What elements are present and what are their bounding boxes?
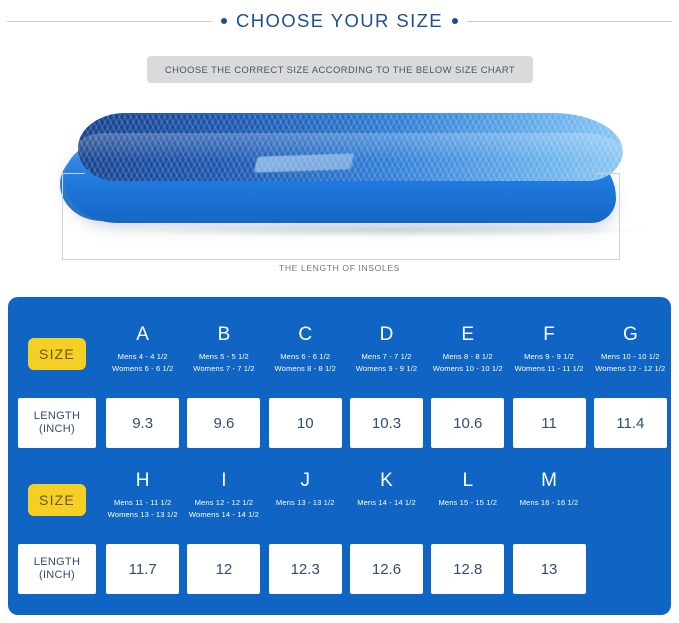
page-title: CHOOSE YOUR SIZE — [0, 6, 679, 36]
size-womens-i: Womens 14 - 14 1/2 — [189, 509, 259, 521]
size-column-m: M Mens 16 - 16 1/2 — [508, 469, 589, 531]
size-mens-e: Mens 8 - 8 1/2 — [443, 351, 493, 363]
size-letter-b: B — [218, 325, 231, 346]
size-mens-b: Mens 5 - 5 1/2 — [199, 351, 249, 363]
length-value-l: 12.8 — [431, 544, 504, 594]
length-row-1: LENGTH (INCH) 9.3 9.6 10 10.3 10.6 11 11… — [8, 395, 671, 451]
size-mens-m: Mens 16 - 16 1/2 — [520, 497, 579, 509]
length-value-m: 13 — [513, 544, 586, 594]
size-badge-cell-1: SIZE — [18, 323, 96, 385]
size-column-empty-2 — [590, 469, 671, 531]
length-wrap-k: 12.6 — [346, 541, 427, 597]
length-value-e: 10.6 — [431, 398, 504, 448]
size-mens-j: Mens 13 - 13 1/2 — [276, 497, 335, 509]
length-wrap-empty-2 — [590, 541, 671, 597]
length-wrap-h: 11.7 — [102, 541, 183, 597]
size-letter-f: F — [543, 325, 555, 346]
size-column-j: J Mens 13 - 13 1/2 — [265, 469, 346, 531]
size-column-i: I Mens 12 - 12 1/2 Womens 14 - 14 1/2 — [183, 469, 264, 531]
length-wrap-m: 13 — [508, 541, 589, 597]
size-header-row-1: SIZE A Mens 4 - 4 1/2 Womens 6 - 6 1/2 B… — [8, 323, 671, 385]
length-label-line1: LENGTH — [34, 410, 80, 423]
insole-top-surface — [77, 113, 624, 181]
size-letter-m: M — [541, 471, 557, 492]
size-letter-a: A — [136, 325, 149, 346]
size-column-d: D Mens 7 - 7 1/2 Womens 9 - 9 1/2 — [346, 323, 427, 385]
size-letter-d: D — [380, 325, 394, 346]
length-row-2: LENGTH (INCH) 11.7 12 12.3 12.6 12.8 13 — [8, 541, 671, 597]
title-dot-left-icon — [221, 18, 227, 24]
size-mens-f: Mens 9 - 9 1/2 — [524, 351, 574, 363]
size-column-a: A Mens 4 - 4 1/2 Womens 6 - 6 1/2 — [102, 323, 183, 385]
size-column-h: H Mens 11 - 11 1/2 Womens 13 - 13 1/2 — [102, 469, 183, 531]
size-letter-g: G — [623, 325, 638, 346]
size-mens-g: Mens 10 - 10 1/2 — [601, 351, 660, 363]
instruction-banner-text: CHOOSE THE CORRECT SIZE ACCORDING TO THE… — [165, 64, 515, 75]
size-column-l: L Mens 15 - 15 1/2 — [427, 469, 508, 531]
size-column-k: K Mens 14 - 14 1/2 — [346, 469, 427, 531]
size-mens-i: Mens 12 - 12 1/2 — [195, 497, 254, 509]
size-mens-c: Mens 6 - 6 1/2 — [280, 351, 330, 363]
size-badge-cell-2: SIZE — [18, 469, 96, 531]
size-womens-g: Womens 12 - 12 1/2 — [595, 363, 665, 375]
size-womens-f: Womens 11 - 11 1/2 — [515, 363, 584, 375]
size-mens-l: Mens 15 - 15 1/2 — [438, 497, 497, 509]
product-image-area: THE LENGTH OF INSOLES — [0, 95, 679, 285]
size-letter-e: E — [461, 325, 474, 346]
size-mens-k: Mens 14 - 14 1/2 — [357, 497, 416, 509]
page-title-text: CHOOSE YOUR SIZE — [236, 10, 443, 32]
size-letter-c: C — [298, 325, 312, 346]
title-rule-right — [467, 21, 672, 22]
size-badge-2: SIZE — [28, 484, 86, 516]
title-rule-left — [7, 21, 212, 22]
length-wrap-l: 12.8 — [427, 541, 508, 597]
length-value-j: 12.3 — [269, 544, 342, 594]
length-value-i: 12 — [187, 544, 260, 594]
size-header-row-2: SIZE H Mens 11 - 11 1/2 Womens 13 - 13 1… — [8, 469, 671, 531]
size-mens-d: Mens 7 - 7 1/2 — [362, 351, 412, 363]
size-womens-h: Womens 13 - 13 1/2 — [108, 509, 178, 521]
length-wrap-j: 12.3 — [265, 541, 346, 597]
length-wrap-i: 12 — [183, 541, 264, 597]
length-label-cell-1: LENGTH (INCH) — [18, 395, 96, 451]
length-value-d: 10.3 — [350, 398, 423, 448]
length-value-empty-2 — [594, 544, 667, 594]
length-value-g: 11.4 — [594, 398, 667, 448]
size-womens-b: Womens 7 - 7 1/2 — [193, 363, 254, 375]
length-wrap-e: 10.6 — [427, 395, 508, 451]
length-value-a: 9.3 — [106, 398, 179, 448]
size-chart-panel: SIZE A Mens 4 - 4 1/2 Womens 6 - 6 1/2 B… — [8, 297, 671, 615]
size-column-e: E Mens 8 - 8 1/2 Womens 10 - 10 1/2 — [427, 323, 508, 385]
length-label-line2: (INCH) — [39, 423, 75, 436]
length-value-h: 11.7 — [106, 544, 179, 594]
length-measure-bracket — [62, 173, 620, 260]
measure-tick-left — [63, 173, 85, 174]
length-label-2: LENGTH (INCH) — [18, 544, 96, 594]
length-label-line1: LENGTH — [34, 556, 80, 569]
size-womens-a: Womens 6 - 6 1/2 — [112, 363, 173, 375]
length-value-b: 9.6 — [187, 398, 260, 448]
title-dot-right-icon — [452, 18, 458, 24]
length-label-line2: (INCH) — [39, 569, 75, 582]
size-womens-c: Womens 8 - 8 1/2 — [275, 363, 336, 375]
size-mens-a: Mens 4 - 4 1/2 — [118, 351, 168, 363]
length-label-1: LENGTH (INCH) — [18, 398, 96, 448]
instruction-banner: CHOOSE THE CORRECT SIZE ACCORDING TO THE… — [147, 56, 533, 83]
size-column-f: F Mens 9 - 9 1/2 Womens 11 - 11 1/2 — [508, 323, 589, 385]
length-value-c: 10 — [269, 398, 342, 448]
length-wrap-f: 11 — [508, 395, 589, 451]
size-letter-k: K — [380, 471, 393, 492]
length-wrap-c: 10 — [265, 395, 346, 451]
length-value-k: 12.6 — [350, 544, 423, 594]
size-column-b: B Mens 5 - 5 1/2 Womens 7 - 7 1/2 — [183, 323, 264, 385]
size-letter-j: J — [300, 471, 310, 492]
length-value-f: 11 — [513, 398, 586, 448]
size-badge-1: SIZE — [28, 338, 86, 370]
length-wrap-a: 9.3 — [102, 395, 183, 451]
size-womens-d: Womens 9 - 9 1/2 — [356, 363, 417, 375]
length-wrap-b: 9.6 — [183, 395, 264, 451]
length-wrap-g: 11.4 — [590, 395, 671, 451]
size-letter-i: I — [221, 471, 226, 492]
length-wrap-d: 10.3 — [346, 395, 427, 451]
size-mens-h: Mens 11 - 11 1/2 — [114, 497, 171, 509]
size-letter-h: H — [136, 471, 150, 492]
size-column-c: C Mens 6 - 6 1/2 Womens 8 - 8 1/2 — [265, 323, 346, 385]
insole-caption: THE LENGTH OF INSOLES — [0, 263, 679, 273]
size-womens-e: Womens 10 - 10 1/2 — [433, 363, 503, 375]
measure-tick-right — [597, 173, 619, 174]
size-column-g: G Mens 10 - 10 1/2 Womens 12 - 12 1/2 — [590, 323, 671, 385]
length-label-cell-2: LENGTH (INCH) — [18, 541, 96, 597]
size-letter-l: L — [462, 471, 473, 492]
